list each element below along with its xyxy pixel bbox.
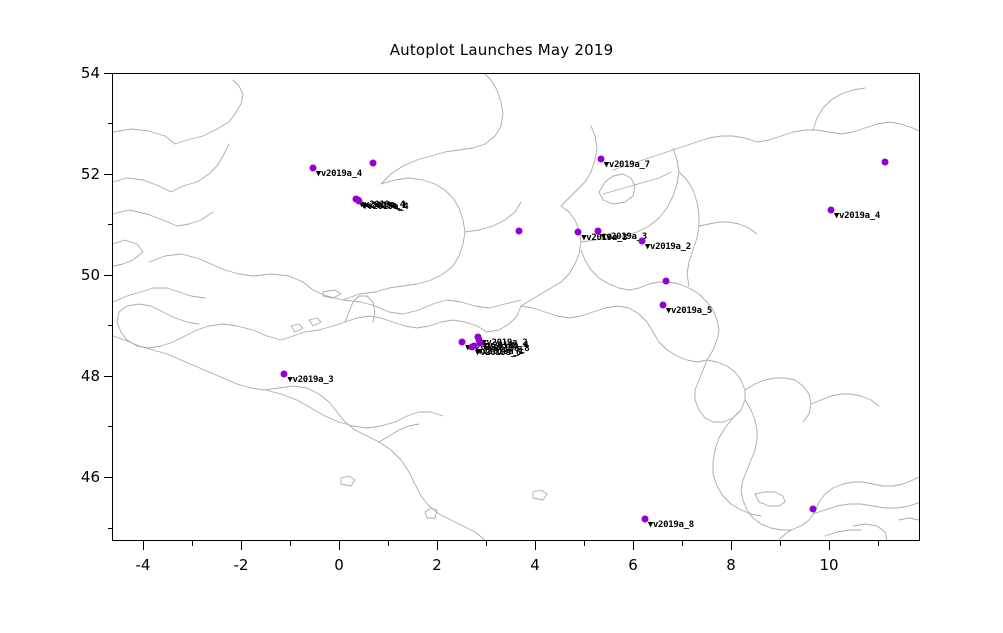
x-label--2: -2 (211, 556, 271, 574)
x-label-4: 4 (505, 556, 565, 574)
x-tick--2 (241, 541, 242, 550)
x-label-10: 10 (799, 556, 859, 574)
x-tick-minor--3 (192, 541, 193, 546)
y-tick-46 (104, 477, 113, 478)
scatter-marker[interactable] (663, 278, 670, 285)
x-label-2: 2 (407, 556, 467, 574)
y-label-52: 52 (62, 165, 100, 183)
x-tick-8 (731, 541, 732, 550)
x-tick-minor-5 (584, 541, 585, 546)
x-label-0: 0 (309, 556, 369, 574)
y-tick-minor-47 (108, 426, 113, 427)
x-label--4: -4 (113, 556, 173, 574)
map-axes[interactable] (112, 73, 920, 541)
x-tick-minor-7 (682, 541, 683, 546)
x-tick-minor--1 (290, 541, 291, 546)
scatter-marker[interactable] (810, 506, 817, 513)
scatter-marker[interactable] (369, 160, 376, 167)
x-tick-0 (339, 541, 340, 550)
scatter-point-label: ▼v2019a_2 (645, 242, 691, 252)
x-label-6: 6 (603, 556, 663, 574)
scatter-point-label: ▼v2019a_4 (316, 169, 362, 179)
y-tick-minor-49 (108, 325, 113, 326)
scatter-point-label: ▼v2019a_3 (287, 375, 333, 385)
x-tick-4 (535, 541, 536, 550)
x-tick-10 (829, 541, 830, 550)
y-label-48: 48 (62, 367, 100, 385)
x-tick-2 (437, 541, 438, 550)
x-tick--4 (143, 541, 144, 550)
x-tick-6 (633, 541, 634, 550)
scatter-point-label: ▼v2019a_5 (666, 306, 712, 316)
y-tick-minor-53 (108, 123, 113, 124)
coastline-layer (113, 74, 920, 541)
scatter-point-label: ▼v2019a_7 (604, 160, 650, 170)
scatter-marker[interactable] (881, 158, 888, 165)
y-label-46: 46 (62, 468, 100, 486)
chart-title: Autoplot Launches May 2019 (0, 41, 1003, 59)
scatter-point-label: ▼v2019a_6 (475, 348, 521, 358)
x-label-8: 8 (701, 556, 761, 574)
scatter-point-label: ▼v2019a_4 (362, 202, 408, 212)
y-tick-minor-45 (108, 528, 113, 529)
figure-canvas: Autoplot Launches May 2019 (0, 0, 1003, 633)
y-tick-minor-51 (108, 224, 113, 225)
y-label-54: 54 (62, 64, 100, 82)
y-tick-50 (104, 275, 113, 276)
scatter-point-label: ▼v2019a_4 (834, 211, 880, 221)
x-tick-minor-3 (486, 541, 487, 546)
scatter-marker[interactable] (516, 227, 523, 234)
scatter-point-label: ▼v2019a_8 (648, 520, 694, 530)
x-tick-minor-1 (388, 541, 389, 546)
y-tick-54 (104, 73, 113, 74)
y-tick-48 (104, 376, 113, 377)
y-tick-52 (104, 174, 113, 175)
x-tick-minor-11 (878, 541, 879, 546)
y-label-50: 50 (62, 266, 100, 284)
x-tick-minor-9 (780, 541, 781, 546)
